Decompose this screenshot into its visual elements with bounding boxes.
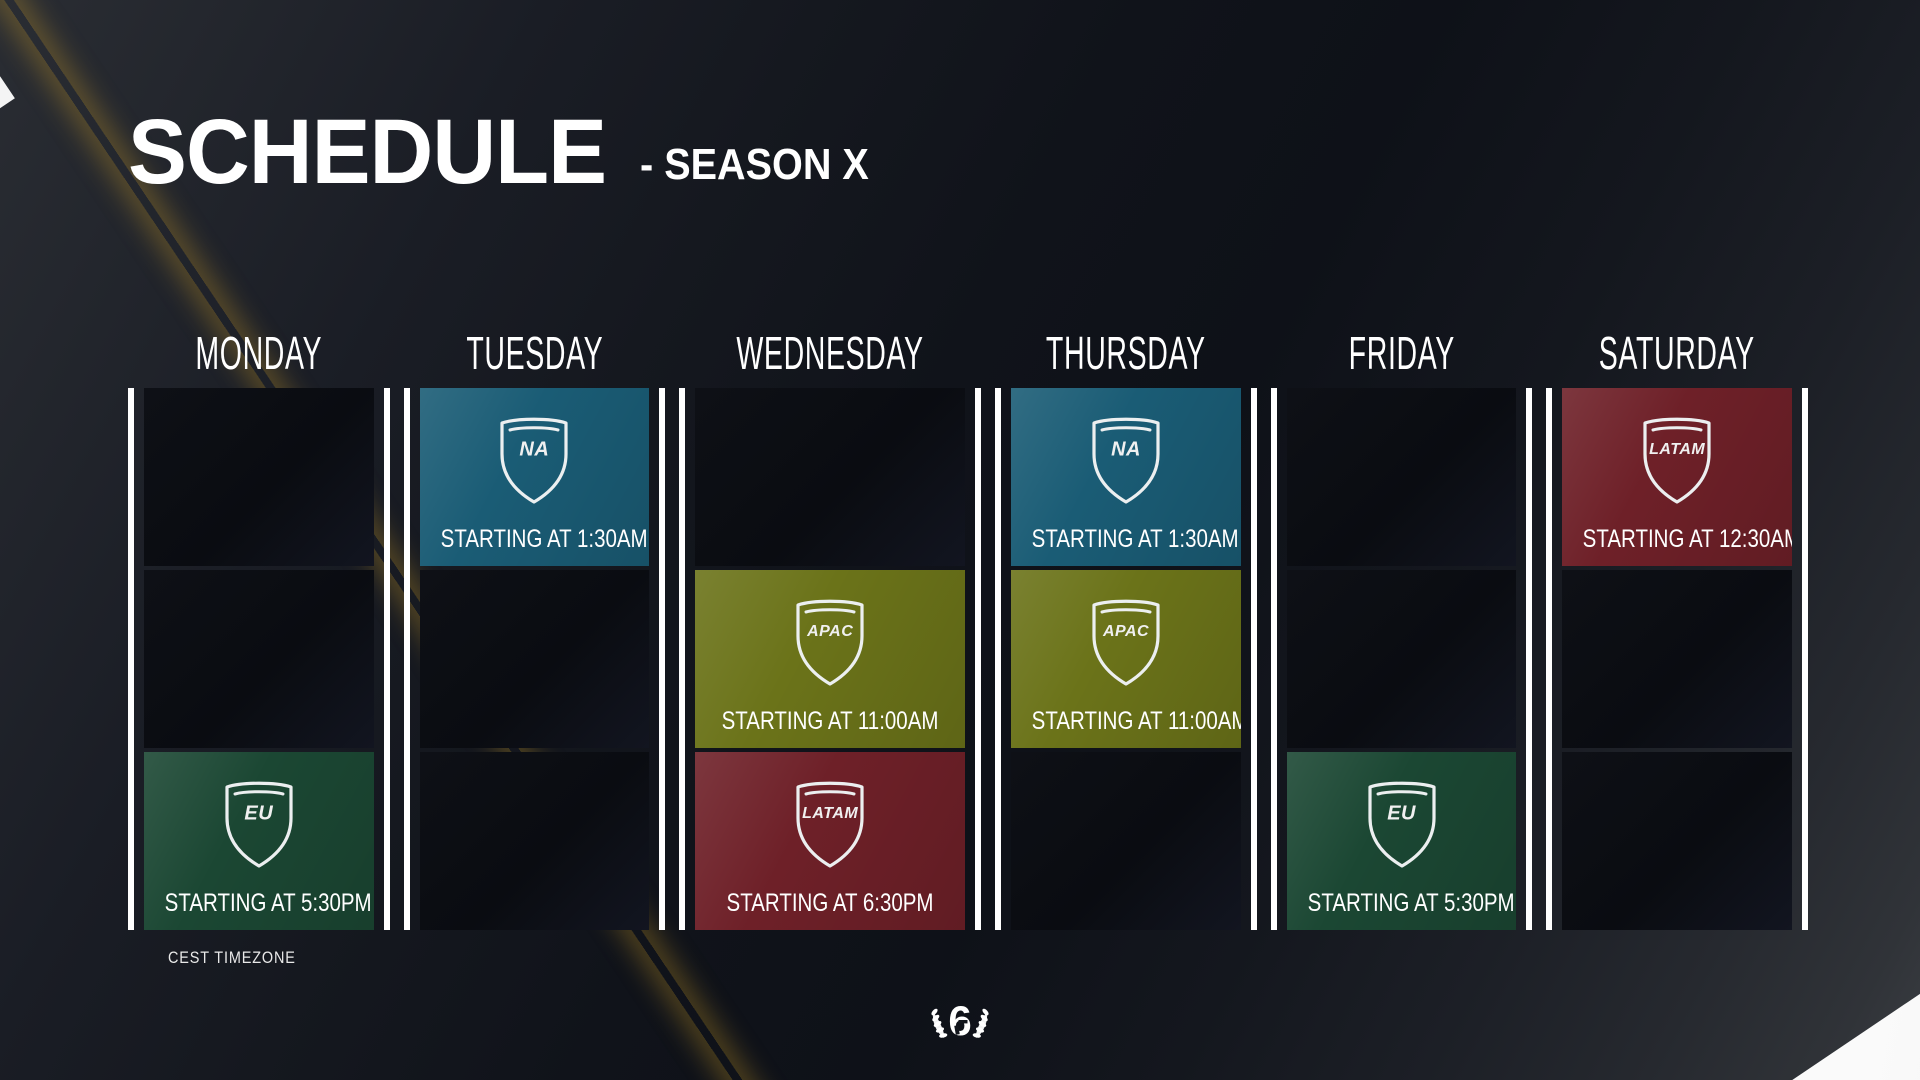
day-column-body: APACSTARTING AT 11:00AM LATAMSTARTING AT… bbox=[679, 388, 981, 930]
column-divider-left bbox=[404, 388, 410, 930]
match-slot-list: NASTARTING AT 1:30AM bbox=[420, 388, 650, 930]
match-card[interactable]: APACSTARTING AT 11:00AM bbox=[1011, 570, 1241, 748]
match-start-time: STARTING AT 11:00AM bbox=[1032, 707, 1220, 748]
page-header: SCHEDULE - SEASON X bbox=[128, 112, 894, 193]
empty-slot bbox=[144, 388, 374, 566]
region-shield-wrap: LATAM bbox=[695, 752, 965, 889]
region-abbreviation: NA bbox=[497, 439, 571, 462]
empty-slot bbox=[1562, 570, 1792, 748]
match-card-body: LATAMSTARTING AT 6:30PM bbox=[695, 752, 965, 930]
shield-icon: LATAM bbox=[1640, 414, 1714, 506]
region-abbreviation: EU bbox=[1365, 803, 1439, 826]
match-start-time: STARTING AT 12:30AM bbox=[1583, 525, 1771, 566]
day-column-tuesday: TUESDAY NASTARTING AT 1:30AM bbox=[404, 330, 666, 930]
match-start-time: STARTING AT 1:30AM bbox=[1032, 525, 1220, 566]
column-divider-right bbox=[1802, 388, 1808, 930]
shield-icon: LATAM bbox=[793, 778, 867, 870]
match-slot-list: NASTARTING AT 1:30AM APACSTARTING AT 11:… bbox=[1011, 388, 1241, 930]
day-header: TUESDAY bbox=[453, 330, 615, 376]
match-start-time: STARTING AT 5:30PM bbox=[165, 889, 353, 930]
day-column-body: NASTARTING AT 1:30AM APACSTARTING AT 11:… bbox=[995, 388, 1257, 930]
match-card[interactable]: EUSTARTING AT 5:30PM bbox=[144, 752, 374, 930]
day-column-wednesday: WEDNESDAY APACSTARTING AT 11:00AM LATAMS… bbox=[679, 330, 981, 930]
region-abbreviation: APAC bbox=[793, 623, 867, 641]
region-shield-wrap: APAC bbox=[1011, 570, 1241, 707]
match-card[interactable]: LATAMSTARTING AT 12:30AM bbox=[1562, 388, 1792, 566]
shield-icon: NA bbox=[497, 414, 571, 506]
day-column-friday: FRIDAY EUSTARTING AT 5:30PM bbox=[1271, 330, 1533, 930]
match-card[interactable]: APACSTARTING AT 11:00AM bbox=[695, 570, 965, 748]
column-divider-right bbox=[1526, 388, 1532, 930]
timezone-note: CEST TIMEZONE bbox=[168, 948, 296, 968]
match-slot-list: EUSTARTING AT 5:30PM bbox=[144, 388, 374, 930]
region-abbreviation: LATAM bbox=[793, 805, 867, 823]
region-abbreviation: LATAM bbox=[1640, 441, 1714, 459]
day-column-saturday: SATURDAY LATAMSTARTING AT 12:30AM bbox=[1546, 330, 1808, 930]
region-shield-wrap: LATAM bbox=[1562, 388, 1792, 525]
region-abbreviation: NA bbox=[1089, 439, 1163, 462]
day-header: FRIDAY bbox=[1321, 330, 1483, 376]
rainbow-six-siege-logo: 6 bbox=[924, 990, 996, 1050]
column-divider-right bbox=[1251, 388, 1257, 930]
match-card-body: NASTARTING AT 1:30AM bbox=[1011, 388, 1241, 566]
region-shield-wrap: EU bbox=[144, 752, 374, 889]
region-shield-wrap: EU bbox=[1287, 752, 1517, 889]
empty-slot bbox=[1287, 570, 1517, 748]
match-card-body: EUSTARTING AT 5:30PM bbox=[1287, 752, 1517, 930]
day-header: MONDAY bbox=[178, 330, 340, 376]
column-divider-left bbox=[995, 388, 1001, 930]
column-divider-left bbox=[128, 388, 134, 930]
match-card-body: LATAMSTARTING AT 12:30AM bbox=[1562, 388, 1792, 566]
schedule-graphic: SCHEDULE - SEASON X MONDAY EUSTARTING AT… bbox=[0, 0, 1920, 1080]
match-slot-list: APACSTARTING AT 11:00AM LATAMSTARTING AT… bbox=[695, 388, 965, 930]
match-slot-list: LATAMSTARTING AT 12:30AM bbox=[1562, 388, 1792, 930]
empty-slot bbox=[144, 570, 374, 748]
match-slot-list: EUSTARTING AT 5:30PM bbox=[1287, 388, 1517, 930]
match-card-body: APACSTARTING AT 11:00AM bbox=[695, 570, 965, 748]
day-header: THURSDAY bbox=[1045, 330, 1207, 376]
page-subtitle: - SEASON X bbox=[640, 143, 869, 193]
day-column-body: NASTARTING AT 1:30AM bbox=[404, 388, 666, 930]
day-column-monday: MONDAY EUSTARTING AT 5:30PM bbox=[128, 330, 390, 930]
shield-icon: EU bbox=[222, 778, 296, 870]
match-card[interactable]: EUSTARTING AT 5:30PM bbox=[1287, 752, 1517, 930]
column-divider-left bbox=[1546, 388, 1552, 930]
match-start-time: STARTING AT 6:30PM bbox=[719, 889, 940, 930]
column-divider-left bbox=[679, 388, 685, 930]
match-card[interactable]: NASTARTING AT 1:30AM bbox=[420, 388, 650, 566]
column-divider-left bbox=[1271, 388, 1277, 930]
week-grid: MONDAY EUSTARTING AT 5:30PMTUESDAY NASTA… bbox=[128, 330, 1808, 930]
column-divider-right bbox=[659, 388, 665, 930]
region-shield-wrap: NA bbox=[420, 388, 650, 525]
page-title: SCHEDULE bbox=[128, 112, 606, 193]
day-column-body: EUSTARTING AT 5:30PM bbox=[128, 388, 390, 930]
shield-icon: EU bbox=[1365, 778, 1439, 870]
day-column-thursday: THURSDAY NASTARTING AT 1:30AM APACSTARTI… bbox=[995, 330, 1257, 930]
shield-icon: NA bbox=[1089, 414, 1163, 506]
empty-slot bbox=[420, 570, 650, 748]
day-header: SATURDAY bbox=[1596, 330, 1758, 376]
empty-slot bbox=[420, 752, 650, 930]
match-start-time: STARTING AT 11:00AM bbox=[719, 707, 940, 748]
empty-slot bbox=[695, 388, 965, 566]
match-card[interactable]: NASTARTING AT 1:30AM bbox=[1011, 388, 1241, 566]
region-abbreviation: APAC bbox=[1089, 623, 1163, 641]
region-abbreviation: EU bbox=[222, 803, 296, 826]
region-shield-wrap: APAC bbox=[695, 570, 965, 707]
match-card[interactable]: LATAMSTARTING AT 6:30PM bbox=[695, 752, 965, 930]
day-column-body: LATAMSTARTING AT 12:30AM bbox=[1546, 388, 1808, 930]
match-card-body: APACSTARTING AT 11:00AM bbox=[1011, 570, 1241, 748]
match-start-time: STARTING AT 5:30PM bbox=[1307, 889, 1495, 930]
day-column-body: EUSTARTING AT 5:30PM bbox=[1271, 388, 1533, 930]
empty-slot bbox=[1011, 752, 1241, 930]
column-divider-right bbox=[384, 388, 390, 930]
region-shield-wrap: NA bbox=[1011, 388, 1241, 525]
empty-slot bbox=[1562, 752, 1792, 930]
day-header: WEDNESDAY bbox=[737, 330, 924, 376]
match-card-body: EUSTARTING AT 5:30PM bbox=[144, 752, 374, 930]
column-divider-right bbox=[975, 388, 981, 930]
match-card-body: NASTARTING AT 1:30AM bbox=[420, 388, 650, 566]
shield-icon: APAC bbox=[1089, 596, 1163, 688]
match-start-time: STARTING AT 1:30AM bbox=[440, 525, 628, 566]
shield-icon: APAC bbox=[793, 596, 867, 688]
empty-slot bbox=[1287, 388, 1517, 566]
